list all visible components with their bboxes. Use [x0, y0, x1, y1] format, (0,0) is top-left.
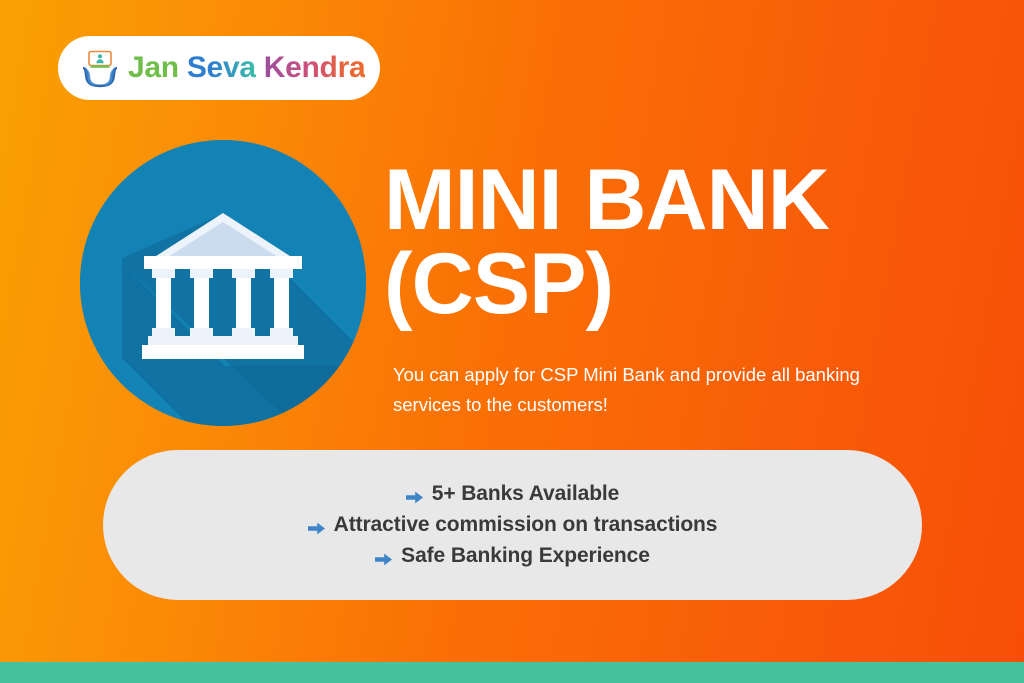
arrow-right-icon: [375, 549, 392, 564]
brand-logo[interactable]: Jan Seva Kendra: [58, 36, 380, 100]
hands-holding-laptop-icon: [78, 46, 122, 90]
feature-label: Safe Banking Experience: [401, 544, 650, 568]
feature-item: Attractive commission on transactions: [308, 513, 718, 537]
description-text: You can apply for CSP Mini Bank and prov…: [393, 360, 873, 420]
feature-item: 5+ Banks Available: [406, 482, 620, 506]
bank-building-icon: [80, 140, 366, 426]
feature-label: 5+ Banks Available: [432, 482, 620, 506]
feature-item: Safe Banking Experience: [375, 544, 650, 568]
logo-word-jan: Jan: [128, 51, 179, 84]
logo-word-seva: Seva: [187, 51, 256, 84]
headline-line-2: (CSP): [384, 242, 984, 326]
arrow-right-icon: [308, 518, 325, 533]
promotional-banner: Jan Seva Kendra: [0, 0, 1024, 683]
bottom-accent-strip: [0, 662, 1024, 683]
arrow-right-icon: [406, 487, 423, 502]
features-panel: 5+ Banks Available Attractive commission…: [103, 450, 922, 600]
logo-word-kendra: Kendra: [264, 51, 366, 84]
feature-label: Attractive commission on transactions: [334, 513, 718, 537]
headline-block: MINI BANK (CSP): [384, 158, 984, 327]
headline-line-1: MINI BANK: [384, 152, 829, 248]
